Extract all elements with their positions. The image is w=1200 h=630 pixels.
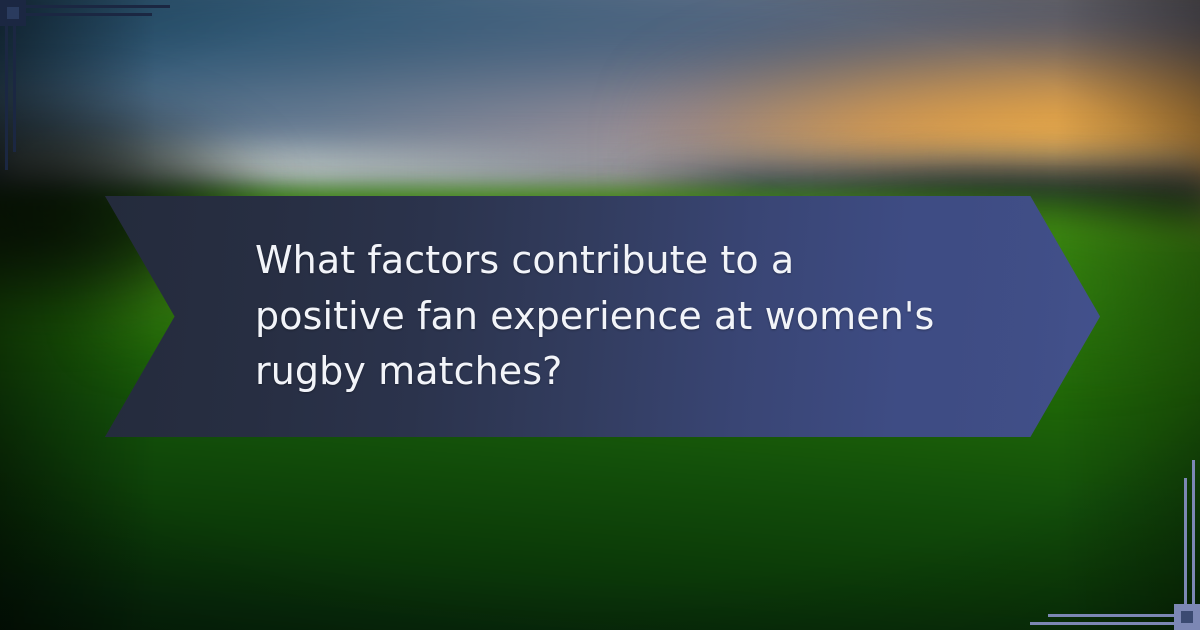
headline-banner: What factors contribute to a positive fa… — [105, 196, 1100, 437]
corner-arm-vertical-outer — [5, 26, 8, 170]
corner-arm-horizontal-outer — [1030, 622, 1174, 625]
corner-frame-bottom-right — [1030, 460, 1200, 630]
corner-arm-horizontal-inner — [26, 13, 152, 16]
corner-arm-vertical-outer — [1192, 460, 1195, 604]
headline-text: What factors contribute to a positive fa… — [255, 233, 955, 399]
corner-arm-horizontal-outer — [26, 5, 170, 8]
social-card: What factors contribute to a positive fa… — [0, 0, 1200, 630]
corner-arm-vertical-inner — [1184, 478, 1187, 604]
corner-arm-horizontal-inner — [1048, 614, 1174, 617]
corner-square-inner-icon — [1181, 611, 1193, 623]
corner-arm-vertical-inner — [13, 26, 16, 152]
headline-banner-inner: What factors contribute to a positive fa… — [105, 233, 1100, 399]
corner-square-inner-icon — [7, 7, 19, 19]
corner-frame-top-left — [0, 0, 170, 170]
